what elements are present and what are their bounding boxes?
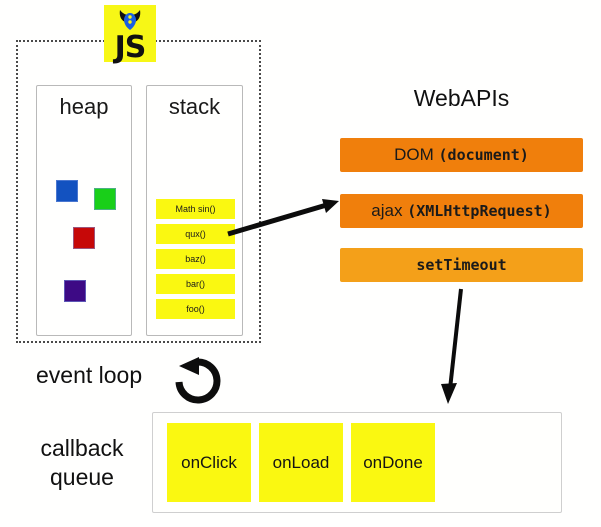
heap-object-green [94, 188, 116, 210]
stack-frame: baz() [156, 249, 235, 269]
heap-object-purple [64, 280, 86, 302]
stack-frame: bar() [156, 274, 235, 294]
webapi-ajax-box: ajax (XMLHttpRequest) [340, 194, 583, 228]
webapi-settimeout-box: setTimeout [340, 248, 583, 282]
stack-title: stack [147, 94, 242, 120]
circular-arrow-icon [166, 355, 228, 407]
stack-panel: stack Math sin() qux() baz() bar() foo() [146, 85, 243, 336]
callback-queue-label-line2: queue [18, 463, 146, 492]
webapi-ajax-prefix: ajax [371, 201, 407, 221]
webapis-title: WebAPIs [340, 85, 583, 112]
stack-frame: foo() [156, 299, 235, 319]
webapi-ajax-mono: (XMLHttpRequest) [407, 202, 552, 220]
webapis-to-queue-arrow [441, 289, 461, 404]
event-loop-label: event loop [36, 362, 142, 389]
stack-frame: qux() [156, 224, 235, 244]
diagram-canvas: JS heap stack Math sin() qux() baz() bar… [0, 0, 601, 527]
js-logo: JS [104, 5, 156, 62]
callback-queue-label: callback queue [18, 434, 146, 492]
heap-title: heap [37, 94, 131, 120]
heap-object-blue [56, 180, 78, 202]
callback-queue-box: onClick onLoad onDone [152, 412, 562, 513]
heap-object-red [73, 227, 95, 249]
stack-frame: Math sin() [156, 199, 235, 219]
callback-queue-item: onClick [167, 423, 251, 502]
callback-queue-item: onLoad [259, 423, 343, 502]
heap-panel: heap [36, 85, 132, 336]
webapi-dom-mono: (document) [439, 146, 529, 164]
callback-queue-item: onDone [351, 423, 435, 502]
bug-icon [117, 8, 143, 32]
callback-queue-label-line1: callback [18, 434, 146, 463]
webapi-settimeout-mono: setTimeout [416, 256, 506, 274]
js-logo-text: JS [104, 33, 156, 63]
webapi-dom-box: DOM (document) [340, 138, 583, 172]
webapi-dom-prefix: DOM [394, 145, 438, 165]
